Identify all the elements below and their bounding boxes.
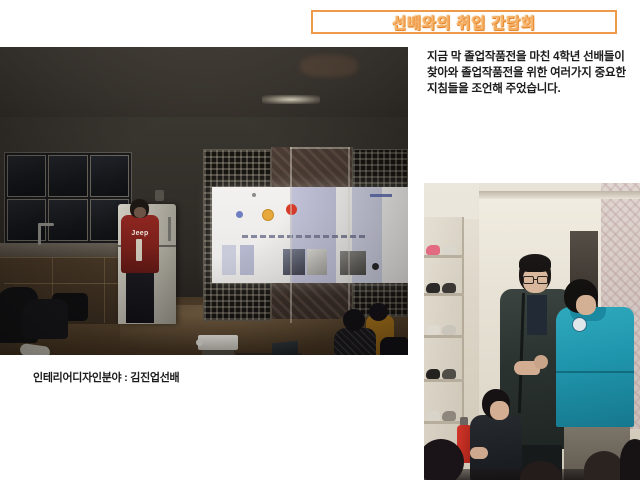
body-paragraph: 지금 막 졸업작품전을 마친 4학년 선배들이 찾아와 졸업작품전을 위한 여러… — [427, 49, 627, 97]
title-banner: 선배와의 취업 간담회 — [311, 10, 617, 34]
photo-haze — [424, 183, 640, 480]
hallway-two-speakers-photo — [424, 183, 640, 480]
page-title: 선배와의 취업 간담회 — [392, 12, 536, 33]
photo-vignette — [0, 47, 408, 355]
photo-caption: 인테리어디자인분야 : 김진업선배 — [33, 369, 179, 385]
dark-classroom-presentation-photo: Jeep — [0, 47, 408, 355]
